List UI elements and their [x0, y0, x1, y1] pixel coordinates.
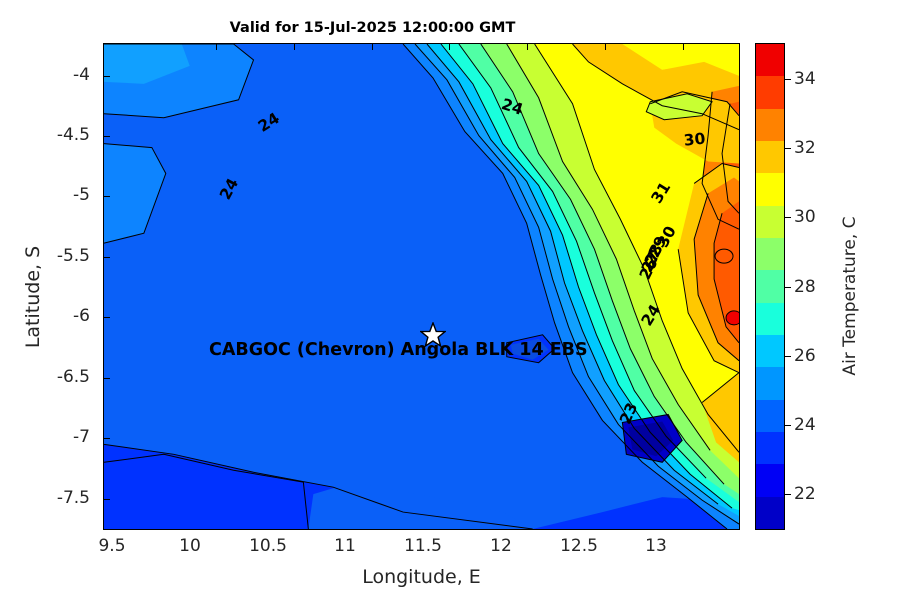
colorbar-tick-label: 24	[794, 415, 816, 435]
y-tick-mark	[104, 438, 110, 439]
colorbar-band	[756, 432, 784, 464]
colorbar-band	[756, 173, 784, 205]
colorbar-band	[756, 270, 784, 302]
contour-field: 2424243032313130292827263224233231302928…	[104, 44, 739, 529]
y-tick: -7.5	[57, 488, 90, 508]
y-tick-mark	[104, 499, 110, 500]
x-tick: 13	[645, 536, 667, 556]
station-label: CABGOC (Chevron) Angola BLK 14 EBS	[209, 340, 588, 360]
y-tick: -5.5	[57, 246, 90, 266]
x-tick: 11	[334, 536, 356, 556]
y-tick-mark	[104, 76, 110, 77]
colorbar-band	[756, 76, 784, 108]
colorbar-tick-label: 34	[794, 69, 816, 89]
y-tick-mark	[104, 317, 110, 318]
y-tick-mark	[104, 257, 110, 258]
colorbar-band	[756, 109, 784, 141]
x-tick: 11.5	[404, 536, 442, 556]
colorbar-band	[756, 497, 784, 529]
y-tick: -7	[73, 427, 90, 447]
colorbar-tick	[785, 148, 791, 149]
colorbar-band	[756, 335, 784, 367]
x-tick: 10	[179, 536, 201, 556]
colorbar-title: Air Temperature, C	[840, 146, 860, 446]
colorbar-band	[756, 238, 784, 270]
y-tick-mark	[104, 196, 110, 197]
y-tick-labels: -4 -4.5 -5 -5.5 -6 -6.5 -7 -7.5	[0, 43, 98, 530]
y-tick: -6	[73, 306, 90, 326]
x-tick: 10.5	[249, 536, 287, 556]
colorbar-band	[756, 464, 784, 496]
y-tick: -6.5	[57, 367, 90, 387]
colorbar-tick-label: 30	[794, 207, 816, 227]
colorbar-band	[756, 400, 784, 432]
chart-title: Valid for 15-Jul-2025 12:00:00 GMT	[0, 20, 745, 36]
colorbar-tick	[785, 356, 791, 357]
colorbar-band	[756, 367, 784, 399]
colorbar-tick-label: 26	[794, 346, 816, 366]
colorbar-band	[756, 141, 784, 173]
y-axis-title: Latitude, S	[22, 172, 44, 422]
y-tick: -4.5	[57, 125, 90, 145]
contour-map-plot: 2424243032313130292827263224233231302928…	[103, 43, 740, 530]
contour-label: 30	[683, 130, 706, 150]
colorbar-tick	[785, 79, 791, 80]
x-axis-title: Longitude, E	[103, 566, 740, 588]
y-tick: -5	[73, 185, 90, 205]
colorbar-tick-label: 32	[794, 138, 816, 158]
colorbar-band	[756, 303, 784, 335]
x-tick: 12.5	[560, 536, 598, 556]
x-tick: 12	[490, 536, 512, 556]
colorbar-tick-label: 22	[794, 484, 816, 504]
colorbar-band	[756, 44, 784, 76]
colorbar-tick	[785, 494, 791, 495]
colorbar	[755, 43, 785, 530]
colorbar-tick	[785, 287, 791, 288]
x-tick-labels: 9.5 10 10.5 11 11.5 12 12.5 13	[103, 536, 740, 562]
colorbar-ticks	[785, 43, 793, 530]
colorbar-band	[756, 206, 784, 238]
y-tick-mark	[104, 378, 110, 379]
x-tick: 9.5	[98, 536, 125, 556]
station-star-icon	[420, 322, 446, 348]
colorbar-tick	[785, 425, 791, 426]
colorbar-tick-label: 28	[794, 277, 816, 297]
colorbar-tick	[785, 217, 791, 218]
y-tick: -4	[73, 65, 90, 85]
figure-root: Valid for 15-Jul-2025 12:00:00 GMT	[0, 0, 900, 600]
contour-label: 23	[406, 528, 427, 529]
y-tick-mark	[104, 136, 110, 137]
